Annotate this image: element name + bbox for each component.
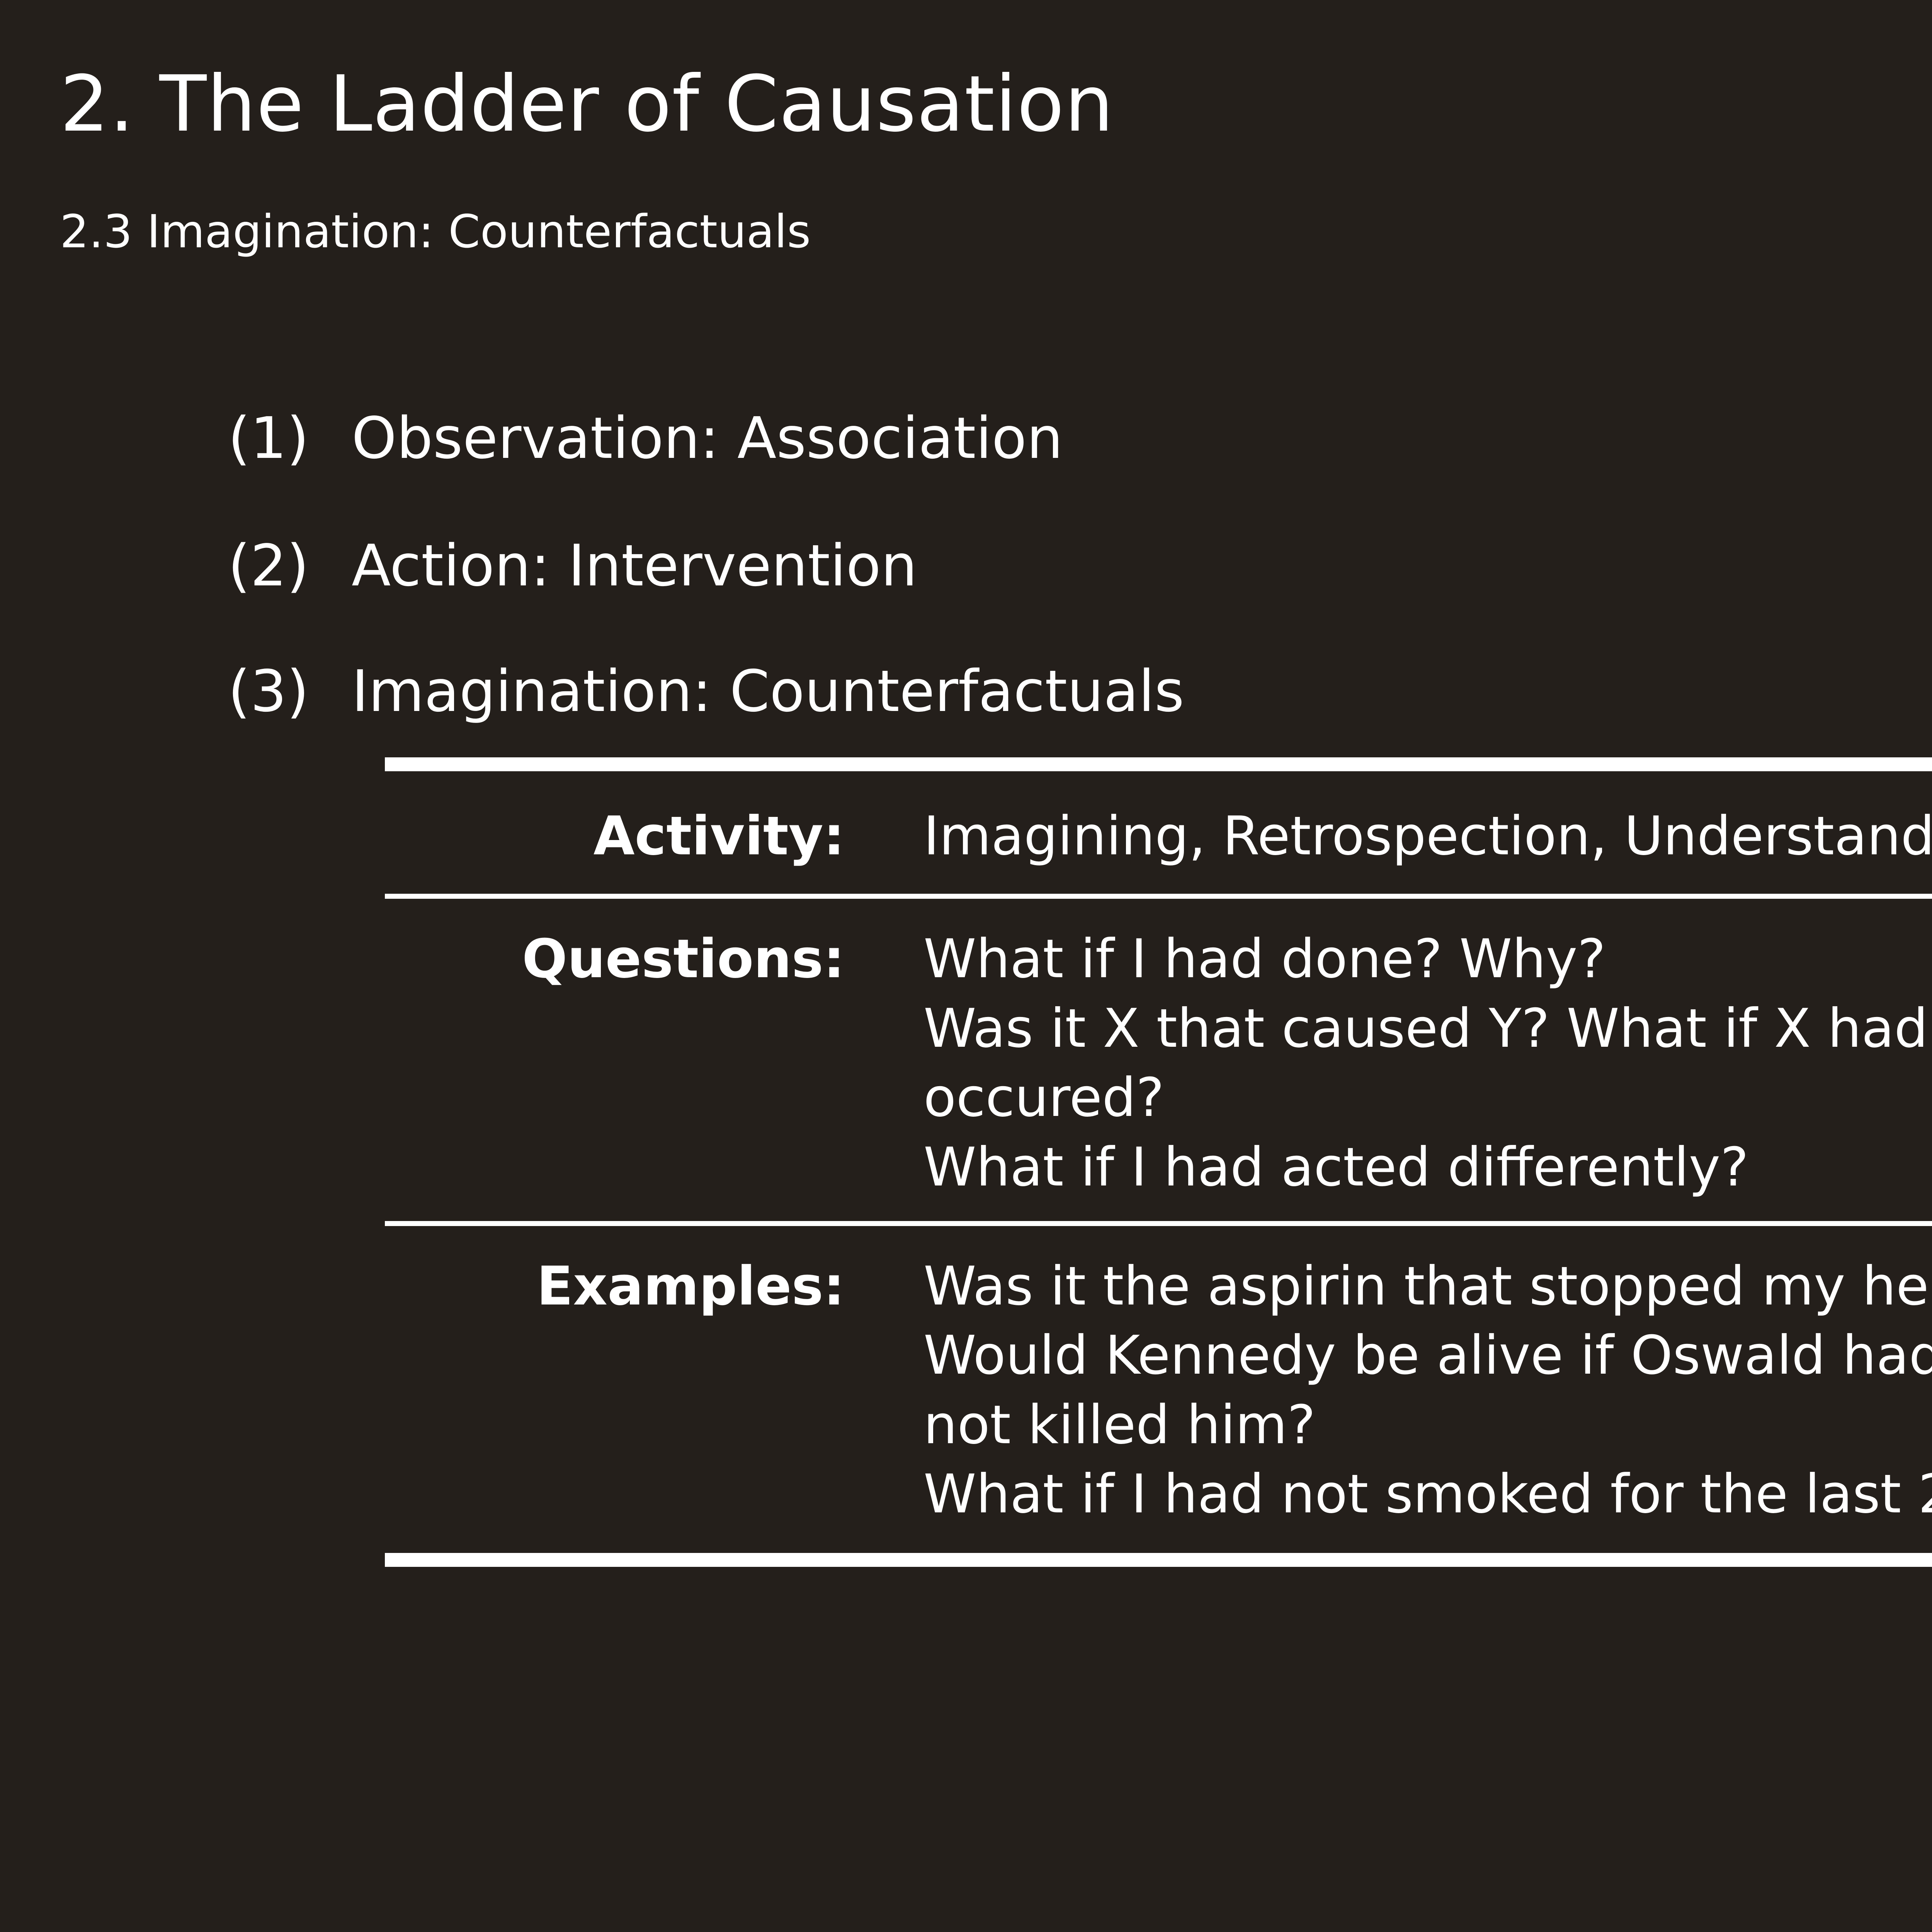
- row-value-questions: What if I had done? Why? Was it X that c…: [845, 924, 1932, 1202]
- list-item-number: (3): [228, 663, 338, 720]
- list-item-label: Observation: Association: [352, 410, 1063, 467]
- table-row: Examples: Was it the aspirin that stoppe…: [385, 1226, 1932, 1553]
- row-value-line: not killed him?: [923, 1390, 1932, 1459]
- section-subtitle: 2.3 Imagination: Counterfactuals: [60, 209, 811, 254]
- table-row: Questions: What if I had done? Why? Was …: [385, 899, 1932, 1221]
- list-item-number: (1): [228, 410, 338, 467]
- table-top-rule: [385, 757, 1932, 771]
- row-value-line: Imagining, Retrospection, Understanding: [923, 801, 1932, 871]
- table-bottom-rule: [385, 1553, 1932, 1567]
- ladder-info-table: Activity: Imagining, Retrospection, Unde…: [385, 757, 1932, 1567]
- row-value-examples: Was it the aspirin that stopped my heada…: [845, 1252, 1932, 1529]
- row-value-line: occured?: [923, 1063, 1932, 1132]
- list-item-label: Action: Intervention: [352, 537, 917, 594]
- row-value-line: What if I had done? Why?: [923, 924, 1932, 993]
- table-row: Activity: Imagining, Retrospection, Unde…: [385, 771, 1932, 894]
- list-item-label: Imagination: Counterfactuals: [352, 663, 1184, 720]
- row-value-line: Was it the aspirin that stopped my heada…: [923, 1252, 1932, 1321]
- row-value-line: Would Kennedy be alive if Oswald had: [923, 1321, 1932, 1390]
- row-value-activity: Imagining, Retrospection, Understanding: [845, 801, 1932, 871]
- row-value-line: What if I had not smoked for the last 2 …: [923, 1459, 1932, 1529]
- row-label-examples: Examples:: [385, 1252, 845, 1321]
- row-value-line: What if I had acted differently?: [923, 1133, 1932, 1202]
- table-divider-rule: [385, 894, 1932, 899]
- table-divider-rule: [385, 1221, 1932, 1226]
- page-title: 2. The Ladder of Causation: [60, 66, 1114, 143]
- row-label-activity: Activity:: [385, 801, 845, 871]
- row-value-line: Was it X that caused Y? What if X had no…: [923, 994, 1932, 1063]
- list-item-number: (2): [228, 537, 338, 594]
- row-label-questions: Questions:: [385, 924, 845, 993]
